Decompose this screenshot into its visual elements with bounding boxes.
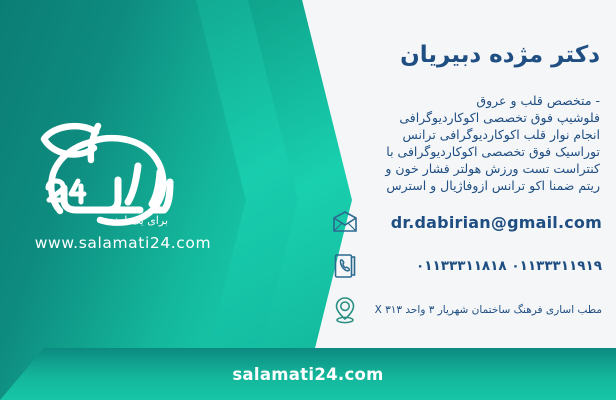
phone-value: ۰۱۱۳۳۳۱۱۹۱۹ ۰۱۱۳۳۳۱۱۸۱۸ — [364, 258, 602, 274]
contact-row-address[interactable]: مطب اساری فرهنگ ساختمان شهریار ۳ واحد ۳۱… — [330, 294, 602, 326]
brand-logo: برای یک لبخند www.salamati24.com — [18, 112, 228, 272]
map-pin-icon — [330, 294, 360, 326]
envelope-icon — [330, 206, 360, 238]
specialty-line: - متخصص قلب و عروق — [332, 92, 600, 109]
footer-bar: salamati24.com — [0, 348, 616, 400]
specialty-line: توراسیک فوق تخصصی اکوکاردیوگرافی با — [332, 143, 600, 160]
email-value: dr.dabirian@gmail.com — [364, 213, 602, 232]
apple-leaf-logo-icon: برای یک لبخند — [18, 112, 228, 234]
logo-website: www.salamati24.com — [18, 234, 228, 252]
business-card: برای یک لبخند www.salamati24.com دکتر مژ… — [0, 0, 616, 400]
info-panel: دکتر مژده دبیریان - متخصص قلب و عروق فلو… — [316, 0, 616, 400]
specialty-line: ریتم ضمنا اکو ترانس ازوفاژیال و استرس — [332, 177, 600, 194]
specialty-line: کنتراست تست ورزش هولتر فشار خون و — [332, 160, 600, 177]
footer-website[interactable]: salamati24.com — [0, 348, 616, 400]
contact-row-email[interactable]: dr.dabirian@gmail.com — [330, 206, 602, 238]
logo-tagline: برای یک لبخند — [104, 214, 168, 227]
address-value: مطب اساری فرهنگ ساختمان شهریار ۳ واحد ۳۱… — [364, 303, 602, 317]
contact-row-phone[interactable]: ۰۱۱۳۳۳۱۱۹۱۹ ۰۱۱۳۳۳۱۱۸۱۸ — [330, 250, 602, 282]
specialty-line: انجام نوار قلب اکوکاردیوگرافی ترانس — [332, 126, 600, 143]
doctor-name: دکتر مژده دبیریان — [400, 42, 600, 68]
contact-list: dr.dabirian@gmail.com ۰۱۱۳۳۳۱۱۹۱۹ ۰۱۱۳۳۳… — [330, 206, 602, 338]
specialty-list: - متخصص قلب و عروق فلوشیپ فوق تخصصی اکوک… — [332, 92, 600, 194]
specialty-line: فلوشیپ فوق تخصصی اکوکاردیوگرافی — [332, 109, 600, 126]
phone-book-icon — [330, 250, 360, 282]
